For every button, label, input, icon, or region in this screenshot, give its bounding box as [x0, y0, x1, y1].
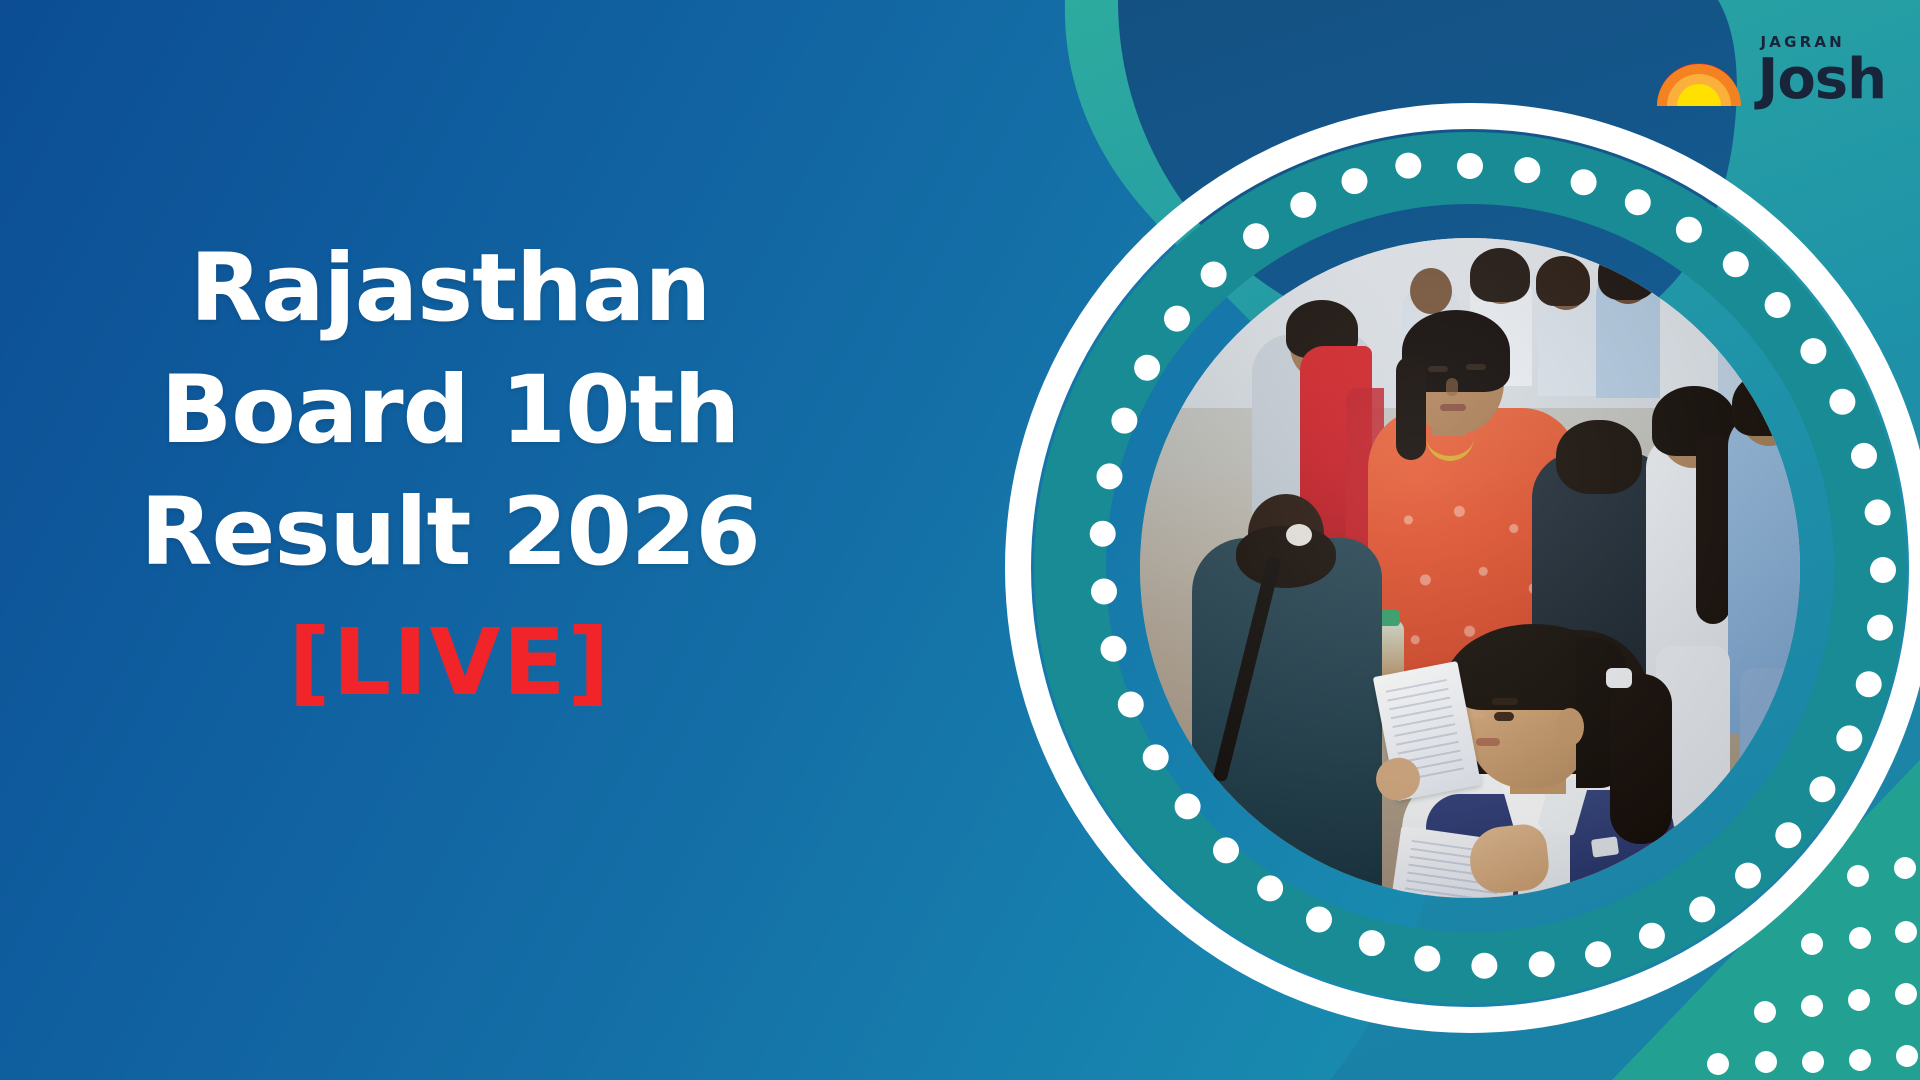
title-line-3: Result 2026: [0, 472, 900, 594]
title-line-2: Board 10th: [0, 350, 900, 472]
logo-wordmark: JAGRAN Josh: [1757, 35, 1886, 108]
teal-band: [1070, 168, 1870, 968]
live-badge: [LIVE]: [0, 617, 900, 709]
logo-josh-text: Josh: [1757, 52, 1886, 108]
sunrise-fan-icon: [1653, 50, 1745, 108]
jagran-josh-logo[interactable]: JAGRAN Josh: [1653, 22, 1886, 108]
outer-white-ring: [1018, 116, 1920, 1020]
medallion-rings: [960, 58, 1920, 1078]
title-line-1: Rajasthan: [0, 228, 900, 350]
page-title: Rajasthan Board 10th Result 2026: [0, 228, 900, 595]
photo-medallion: [960, 58, 1920, 1078]
headline-block: Rajasthan Board 10th Result 2026 [LIVE]: [0, 228, 900, 709]
banner-canvas: Rajasthan Board 10th Result 2026 [LIVE] …: [0, 0, 1920, 1080]
